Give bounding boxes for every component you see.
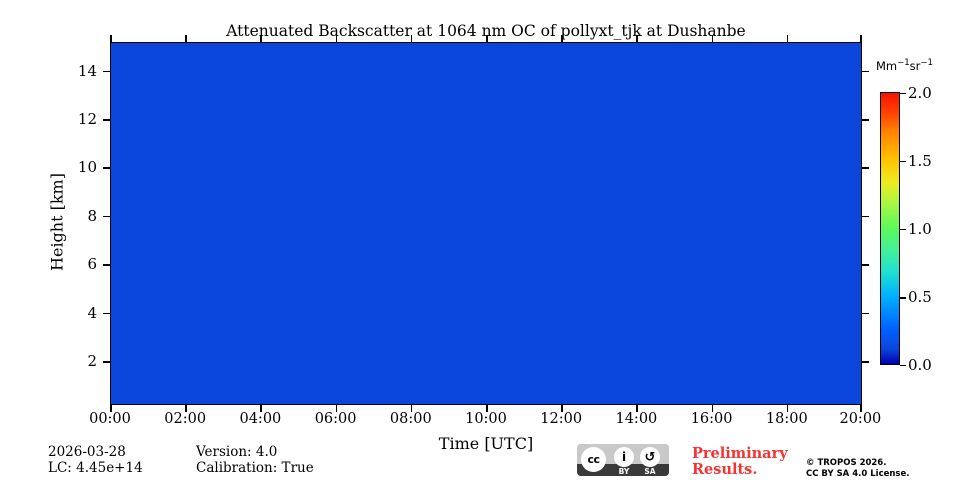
y-tick-right-6 [862, 264, 869, 266]
y-tick-label-6: 6 [87, 257, 97, 272]
colorbar-tick-2 [900, 93, 906, 94]
y-tick-label-14: 14 [78, 64, 97, 79]
colorbar-label-0_5: 0.5 [908, 290, 932, 305]
preliminary-results-notice: Preliminary Results. [692, 446, 788, 478]
x-tick-label-1200: 12:00 [526, 412, 596, 427]
copyright-line-1: © TROPOS 2026. [806, 458, 886, 469]
footer-lidar-const: LC: 4.45e+14 [48, 460, 143, 476]
share-alike-icon: ↺ [640, 447, 660, 467]
preliminary-line-1: Preliminary [692, 446, 788, 462]
attribution-person-icon: i [614, 447, 634, 467]
y-tick-right-2 [862, 361, 869, 363]
x-tick-label-1000: 10:00 [451, 412, 521, 427]
colorbar-gradient [881, 93, 899, 364]
colorbar-label-0: 0.0 [908, 358, 932, 373]
y-tick-label-4: 4 [87, 306, 97, 321]
footer-version: Version: 4.0 [196, 444, 277, 460]
heatmap-surface [111, 43, 861, 404]
colorbar-label-1: 1.0 [908, 222, 932, 237]
x-tick-top-2000 [860, 35, 862, 42]
copyright-line-2: CC BY SA 4.0 License. [806, 469, 909, 480]
y-tick-8 [103, 216, 110, 218]
x-tick-top-1000 [486, 35, 488, 42]
y-tick-4 [103, 313, 110, 315]
x-tick-label-0800: 08:00 [376, 412, 446, 427]
x-tick-label-0000: 00:00 [75, 412, 145, 427]
x-tick-top-1800 [787, 35, 789, 42]
x-tick-top-1200 [561, 35, 563, 42]
y-tick-label-8: 8 [87, 209, 97, 224]
y-tick-right-8 [862, 216, 869, 218]
colorbar-tick-1 [900, 229, 906, 230]
y-tick-right-4 [862, 313, 869, 315]
y-tick-label-2: 2 [87, 354, 97, 369]
y-tick-right-10 [862, 167, 869, 169]
y-tick-label-10: 10 [78, 160, 97, 175]
colorbar-tick-0_5 [900, 297, 906, 298]
x-tick-label-1800: 18:00 [752, 412, 822, 427]
x-tick-label-0600: 06:00 [301, 412, 371, 427]
footer-date: 2026-03-28 [48, 444, 126, 460]
creative-commons-icon: cc [581, 447, 606, 472]
y-tick-6 [103, 264, 110, 266]
x-tick-top-0200 [185, 35, 187, 42]
x-tick-label-1600: 16:00 [677, 412, 747, 427]
x-tick-label-2000: 20:00 [825, 412, 895, 427]
y-tick-2 [103, 361, 110, 363]
x-tick-top-1600 [712, 35, 714, 42]
cc-by-label: BY [614, 467, 634, 476]
plot-area[interactable] [110, 42, 862, 405]
x-tick-top-0400 [260, 35, 262, 42]
y-tick-14 [103, 71, 110, 73]
y-tick-12 [103, 119, 110, 121]
cc-sa-label: SA [640, 467, 660, 476]
y-tick-label-12: 12 [78, 112, 97, 127]
colorbar-tick-0 [900, 365, 906, 366]
preliminary-line-2: Results. [692, 462, 788, 478]
cc-license-badge[interactable]: cc i ↺ BY SA [577, 444, 669, 476]
colorbar-label-2: 2.0 [908, 86, 932, 101]
colorbar-tick-1_5 [900, 161, 906, 162]
x-tick-top-0600 [336, 35, 338, 42]
x-tick-top-1400 [636, 35, 638, 42]
footer-calibration: Calibration: True [196, 460, 314, 476]
x-tick-label-1400: 14:00 [601, 412, 671, 427]
y-axis-label: Height [km] [48, 173, 67, 271]
x-tick-top-0000 [110, 35, 112, 42]
x-tick-label-0400: 04:00 [225, 412, 295, 427]
y-tick-right-14 [862, 71, 869, 73]
x-tick-top-0800 [411, 35, 413, 42]
y-tick-10 [103, 167, 110, 169]
colorbar-unit-label: Mm−1sr−1 [876, 60, 933, 73]
colorbar-label-1_5: 1.5 [908, 154, 932, 169]
y-tick-right-12 [862, 119, 869, 121]
colorbar [880, 92, 900, 365]
lidar-quicklook-figure: Attenuated Backscatter at 1064 nm OC of … [0, 0, 960, 480]
x-tick-label-0200: 02:00 [150, 412, 220, 427]
